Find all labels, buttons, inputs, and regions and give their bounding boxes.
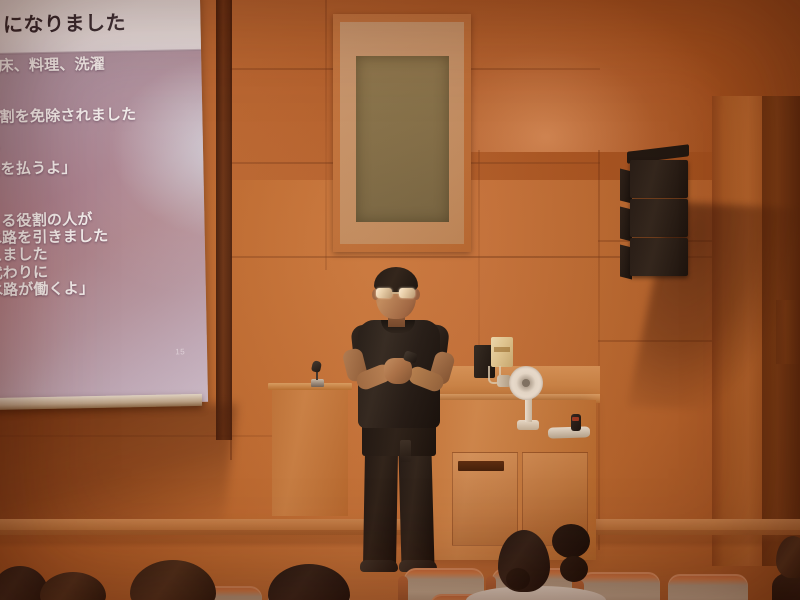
- wall-seam: [598, 150, 600, 550]
- presenter-pocket: [400, 440, 411, 462]
- wall-recess: [216, 0, 232, 440]
- glasses: [375, 288, 417, 299]
- audience-hair-bun: [552, 524, 590, 558]
- glasses-bridge: [392, 292, 399, 294]
- audience-rows: [0, 526, 800, 600]
- fan-hub: [522, 379, 530, 387]
- slide-line: 水路が働くよ」: [0, 278, 193, 300]
- glasses-lens-left: [376, 288, 392, 298]
- presenter-hands: [384, 358, 412, 384]
- podium-vent: [458, 461, 504, 471]
- control-indicator-light: [572, 417, 579, 421]
- side-table-lectern: [272, 388, 348, 516]
- loudspeaker-module: [630, 199, 688, 237]
- aed-wall-unit[interactable]: [491, 337, 513, 367]
- control-device[interactable]: [548, 426, 590, 438]
- panel-field: [356, 56, 449, 222]
- framed-acoustic-panel: [333, 14, 471, 252]
- slide-surface: とになりました 寝床、料理、洗濯 役割を免除されました す 金を払うよ」 くる役…: [0, 0, 208, 406]
- slide-body: 寝床、料理、洗濯 役割を免除されました す 金を払うよ」 くる役割の人が 水路を…: [0, 54, 193, 300]
- side-table-top: [268, 383, 352, 390]
- seat[interactable]: [668, 574, 748, 600]
- wall-seam: [325, 0, 327, 270]
- slide-title: とになりました: [0, 5, 183, 38]
- screen-cast-shadow: [0, 404, 237, 532]
- loudspeaker-module: [630, 238, 688, 276]
- panel-mat: [340, 22, 464, 244]
- audience-hair-bun: [560, 556, 588, 582]
- glasses-lens-right: [399, 288, 415, 298]
- upper-wall-light-wash: [430, 0, 720, 152]
- aed-label: [494, 347, 510, 352]
- slide-page-number: 15: [175, 347, 185, 356]
- microphone-base: [311, 379, 324, 387]
- audience-hair-bun: [506, 568, 530, 590]
- loudspeaker-module: [630, 160, 688, 198]
- projection-screen: とになりました 寝床、料理、洗濯 役割を免除されました す 金を払うよ」 くる役…: [0, 0, 208, 406]
- lecture-hall-photo: とになりました 寝床、料理、洗濯 役割を免除されました す 金を払うよ」 くる役…: [0, 0, 800, 600]
- seat-armrest: [398, 576, 408, 600]
